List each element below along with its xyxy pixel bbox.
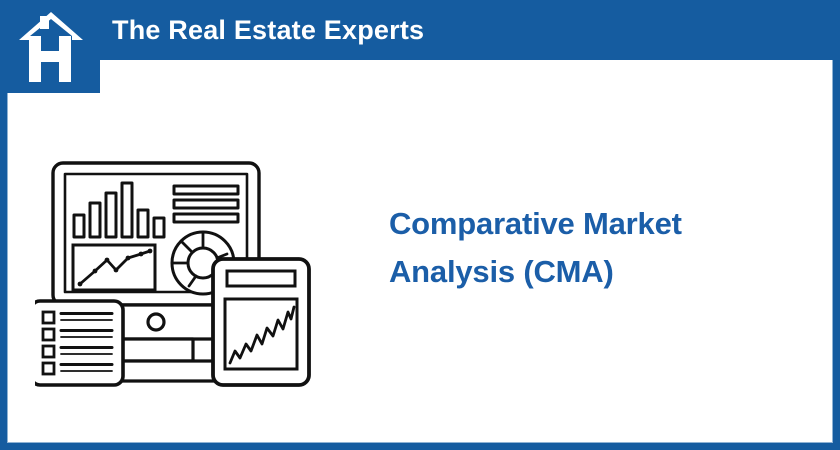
bar-3 (106, 193, 116, 237)
text-line-3 (174, 214, 238, 222)
tablet-header-bar (227, 271, 295, 286)
frame-border-bottom (0, 443, 840, 450)
bar-6 (154, 218, 164, 237)
checklist-checkbox-1 (43, 312, 54, 323)
bar-1 (74, 215, 84, 237)
text-line-2 (174, 200, 238, 208)
monitor-stand-column (121, 339, 193, 361)
checklist-checkbox-4 (43, 363, 54, 374)
header-title: The Real Estate Experts (112, 0, 424, 60)
monitor-power-dot (148, 314, 164, 330)
market-analytics-dashboard-illustration (35, 155, 335, 395)
checklist-card (35, 301, 123, 385)
text-lines-block (174, 186, 238, 222)
bar-5 (138, 210, 148, 237)
text-line-1 (174, 186, 238, 194)
content-area: Comparative Market Analysis (CMA) (7, 60, 833, 443)
page-title: Comparative Market Analysis (CMA) (389, 200, 789, 296)
page-title-line-2: Analysis (CMA) (389, 248, 789, 296)
checklist-checkbox-3 (43, 346, 54, 357)
bar-2 (90, 203, 100, 237)
tablet-device (213, 259, 309, 385)
frame-border-right (833, 60, 840, 450)
frame-border-left (0, 60, 7, 450)
checklist-checkbox-2 (43, 329, 54, 340)
tablet-chart-panel (225, 299, 297, 369)
bar-4 (122, 183, 132, 237)
page-title-line-1: Comparative Market (389, 200, 789, 248)
page-root: The Real Estate Experts (0, 0, 840, 450)
header-bar: The Real Estate Experts (0, 0, 840, 60)
line-chart-panel (73, 245, 155, 290)
